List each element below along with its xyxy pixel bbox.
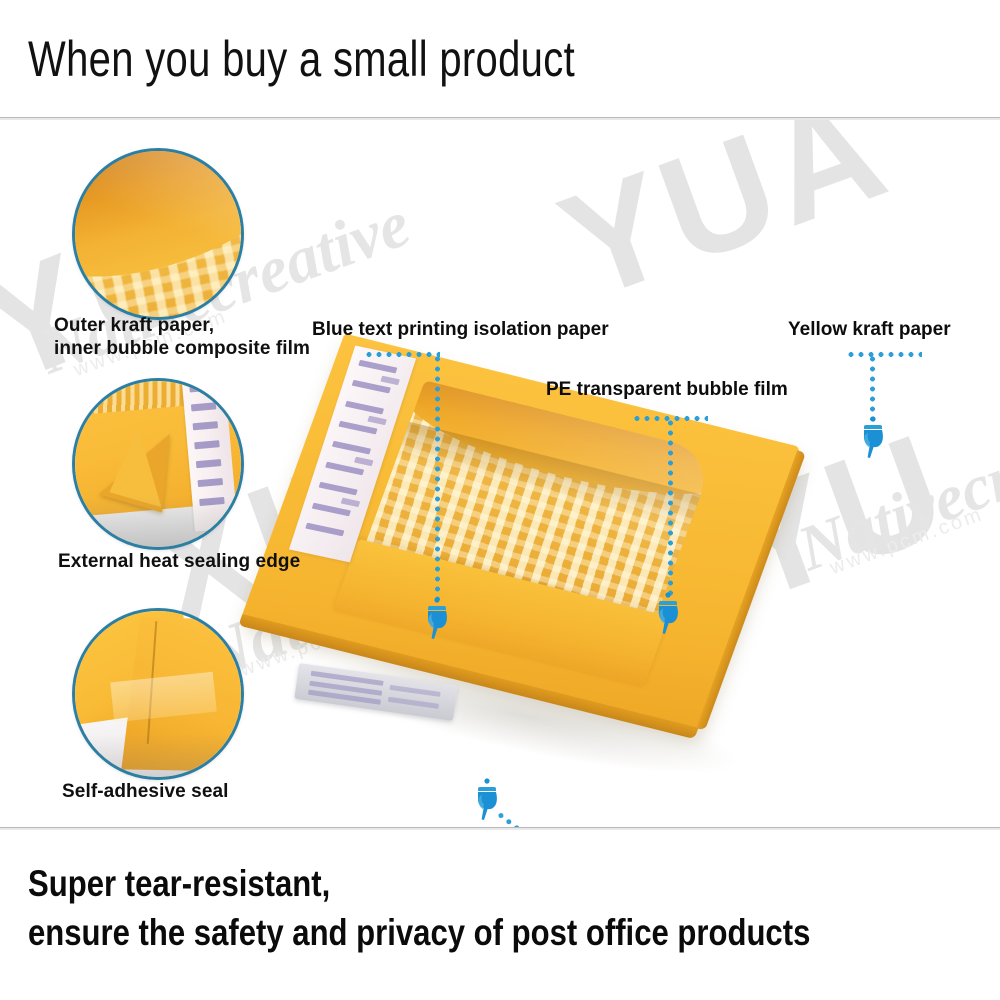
header-band: When you buy a small product <box>0 0 1000 118</box>
inset-caption-outer-kraft: Outer kraft paper, inner bubble composit… <box>54 314 310 360</box>
callout-label-kraft-paper: Yellow kraft paper <box>788 318 951 341</box>
leader-line-bubble-film-vertical <box>668 418 673 600</box>
inset-caption-line-1: Outer kraft paper, <box>54 314 310 337</box>
watermark-brand-3: YUA <box>540 120 908 334</box>
leader-line-isolation-paper-vertical <box>435 354 440 606</box>
footer-band: Super tear-resistant, ensure the safety … <box>0 830 1000 1000</box>
product-photo-bubble-mailer <box>286 382 846 782</box>
inset-self-adhesive-seal <box>72 608 244 780</box>
pointing-hand-marker-icon <box>651 592 685 636</box>
callout-label-isolation-paper: Blue text printing isolation paper <box>312 318 609 341</box>
footer-line-2: ensure the safety and privacy of post of… <box>28 912 810 954</box>
leader-line-isolation-paper-horizontal <box>364 352 440 357</box>
pointing-hand-marker-icon <box>470 778 504 822</box>
pointing-hand-marker-icon <box>420 597 454 641</box>
inset-caption-heat-sealing-edge: External heat sealing edge <box>58 550 300 573</box>
callout-label-bubble-film: PE transparent bubble film <box>546 378 788 401</box>
page-title: When you buy a small product <box>28 30 575 88</box>
illustration-stage: YU XIN YUA NYU Nativecreative Nativecrea… <box>0 120 1000 827</box>
inset-caption-self-adhesive-seal: Self-adhesive seal <box>62 780 229 803</box>
footer-line-1: Super tear-resistant, <box>28 863 330 905</box>
infographic-page: When you buy a small product YU XIN YUA … <box>0 0 1000 1000</box>
inset-outer-kraft-inner-bubble <box>72 148 244 320</box>
inset-external-heat-sealing-edge <box>72 378 244 550</box>
inset-caption-line-2: inner bubble composite film <box>54 337 310 360</box>
watermark-url-3: www.pcm.com <box>827 503 987 580</box>
leader-line-kraft-paper-vertical <box>870 354 875 422</box>
leader-line-hot-melt-diagonal <box>495 811 566 827</box>
leader-line-kraft-paper-horizontal <box>846 352 922 357</box>
pointing-hand-marker-icon <box>856 416 890 460</box>
